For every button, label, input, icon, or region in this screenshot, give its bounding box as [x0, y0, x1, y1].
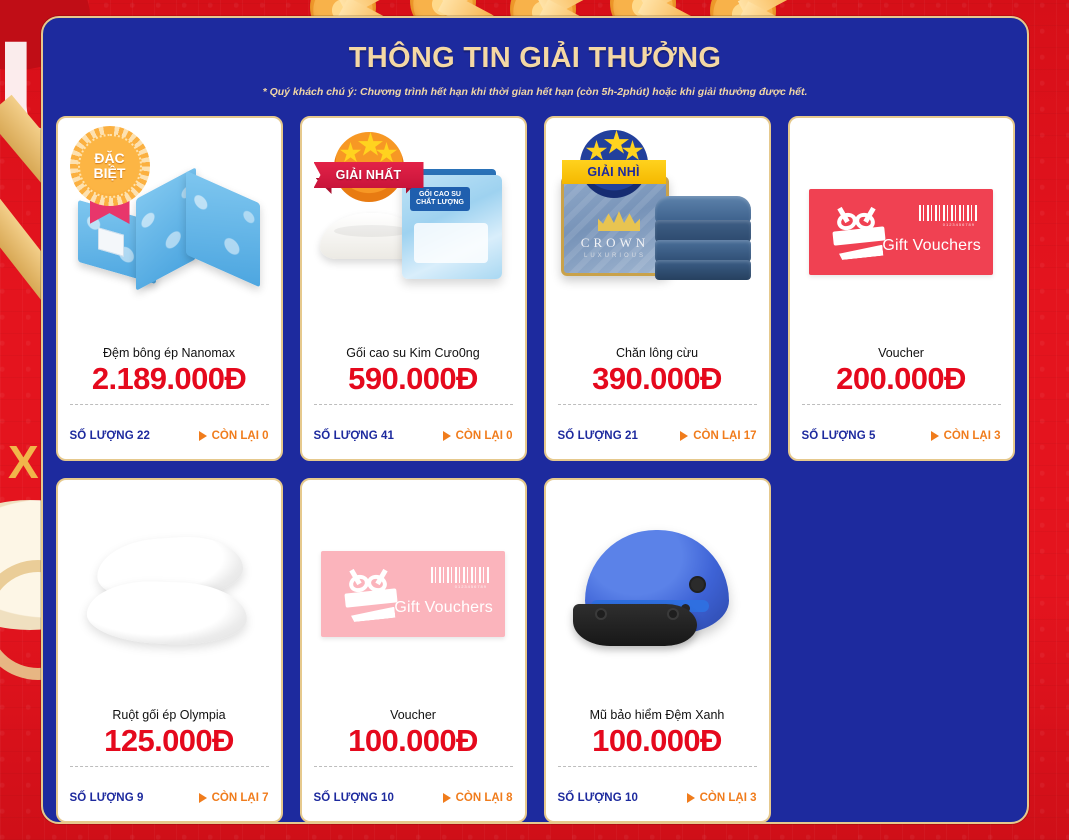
crown-icon [598, 211, 640, 231]
play-triangle-icon [687, 793, 695, 803]
prize-price: 125.000Đ [58, 724, 281, 758]
prize-remaining-label: CÒN LẠI 3 [944, 430, 1001, 442]
prize-price: 390.000Đ [546, 362, 769, 396]
barcode-icon [919, 205, 979, 221]
prize-price: 100.000Đ [546, 724, 769, 758]
prize-image-voucher-red: 0123456789 Gift Vouchers [790, 118, 1013, 346]
star-icon [340, 142, 362, 164]
badge-inner: ĐẶC BIỆT [78, 134, 142, 198]
prize-quantity: SỐ LƯỢNG 9 [70, 792, 144, 804]
helmet-brim [573, 604, 697, 646]
helmet-rivet [595, 608, 607, 620]
play-triangle-icon [931, 431, 939, 441]
prize-card[interactable]: 0123456789 Gift Vouchers Voucher 200.000… [788, 116, 1015, 461]
prize-remaining: CÒN LẠI 0 [443, 430, 513, 442]
blanket-brand: CROWN [564, 235, 666, 251]
prize-footer: SỐ LƯỢNG 41 CÒN LẠI 0 [302, 405, 525, 459]
star-icon [358, 132, 384, 158]
prize-card[interactable]: Mũ bảo hiểm Đệm Xanh 100.000Đ SỐ LƯỢNG 1… [544, 478, 771, 823]
prize-grid: ĐẶC BIỆT Đệm bông ép Nanomax 2.189.000Đ … [43, 98, 1027, 823]
prize-image-helmet [546, 480, 769, 708]
pillow-bottom [86, 579, 248, 647]
folded-blanket [655, 260, 751, 280]
folded-blanket [655, 240, 751, 262]
prize-card[interactable]: GIẢI NHÌ CROWN LUXURIOUS Chăn lông cừu [544, 116, 771, 461]
prize-image-pillows [58, 480, 281, 708]
prize-remaining-label: CÒN LẠI 8 [456, 792, 513, 804]
barcode-number: 0123456789 [943, 222, 975, 227]
badge-ribbon-label: GIẢI NHÌ [562, 160, 666, 184]
prize-quantity: SỐ LƯỢNG 21 [558, 430, 639, 442]
prize-footer: SỐ LƯỢNG 21 CÒN LẠI 17 [546, 405, 769, 459]
gift-box-base [839, 245, 884, 261]
barcode-icon [431, 567, 491, 583]
badge-giai-nhi: GIẢI NHÌ [558, 130, 668, 206]
badge-line-2: BIỆT [94, 166, 126, 181]
helmet-illustration [557, 524, 757, 664]
prize-price: 590.000Đ [302, 362, 525, 396]
prize-card[interactable]: Ruột gối ép Olympia 125.000Đ SỐ LƯỢNG 9 … [56, 478, 283, 823]
badge-ribbon-label: GIẢI NHẤT [314, 162, 424, 188]
prize-name: Ruột gối ép Olympia [58, 708, 281, 722]
play-triangle-icon [680, 431, 688, 441]
prize-name: Voucher [302, 708, 525, 722]
prize-remaining-label: CÒN LẠI 17 [693, 430, 756, 442]
play-triangle-icon [199, 793, 207, 803]
prize-remaining-label: CÒN LẠI 3 [700, 792, 757, 804]
panel-note: * Quý khách chú ý: Chương trình hết hạn … [43, 86, 1027, 98]
star-icon [604, 130, 630, 156]
prize-name: Voucher [790, 346, 1013, 360]
gift-voucher-pink: 0123456789 Gift Vouchers [321, 551, 505, 637]
page-title: THÔNG TIN GIẢI THƯỞNG [43, 42, 1027, 75]
prize-quantity: SỐ LƯỢNG 22 [70, 430, 151, 442]
gift-icon [831, 207, 887, 257]
play-triangle-icon [443, 793, 451, 803]
prize-footer: SỐ LƯỢNG 10 CÒN LẠI 8 [302, 767, 525, 821]
prize-remaining-label: CÒN LẠI 0 [212, 430, 269, 442]
prize-price: 200.000Đ [790, 362, 1013, 396]
prize-remaining: CÒN LẠI 8 [443, 792, 513, 804]
prize-info-panel: THÔNG TIN GIẢI THƯỞNG * Quý khách chú ý:… [41, 16, 1029, 824]
prize-remaining-label: CÒN LẠI 0 [456, 430, 513, 442]
badge-line-1: ĐẶC [94, 151, 124, 166]
bag-white-area [414, 223, 488, 263]
prize-name: Gối cao su Kim Cưo0ng [302, 346, 525, 360]
mattress-panel-c [186, 171, 260, 288]
folded-blanket [655, 196, 751, 222]
gift-voucher-red: 0123456789 Gift Vouchers [809, 189, 993, 275]
prize-remaining: CÒN LẠI 3 [687, 792, 757, 804]
prize-footer: SỐ LƯỢNG 22 CÒN LẠI 0 [58, 405, 281, 459]
prize-price: 100.000Đ [302, 724, 525, 758]
badge-dac-biet: ĐẶC BIỆT [68, 126, 152, 222]
prize-card[interactable]: ĐẶC BIỆT Đệm bông ép Nanomax 2.189.000Đ … [56, 116, 283, 461]
gift-box-base [351, 607, 396, 623]
prize-remaining: CÒN LẠI 7 [199, 792, 269, 804]
prize-footer: SỐ LƯỢNG 10 CÒN LẠI 3 [546, 767, 769, 821]
prize-quantity: SỐ LƯỢNG 41 [314, 430, 395, 442]
play-triangle-icon [443, 431, 451, 441]
prize-card[interactable]: GIẢI NHẤT GỐI CAO SU CHẤT LƯỢNG Gối cao … [300, 116, 527, 461]
helmet-rivet [667, 608, 679, 620]
prize-remaining: CÒN LẠI 3 [931, 430, 1001, 442]
prize-remaining: CÒN LẠI 0 [199, 430, 269, 442]
prize-name: Đệm bông ép Nanomax [58, 346, 281, 360]
star-icon [376, 142, 398, 164]
star-icon [586, 140, 608, 162]
badge-giai-nhat: GIẢI NHẤT [314, 132, 424, 210]
voucher-label: Gift Vouchers [882, 237, 981, 255]
prize-quantity: SỐ LƯỢNG 10 [558, 792, 639, 804]
star-icon [622, 140, 644, 162]
gift-icon [343, 569, 399, 619]
prize-quantity: SỐ LƯỢNG 5 [802, 430, 876, 442]
prize-price: 2.189.000Đ [58, 362, 281, 396]
prize-remaining: CÒN LẠI 17 [680, 430, 756, 442]
prize-quantity: SỐ LƯỢNG 10 [314, 792, 395, 804]
prize-image-voucher-pink: 0123456789 Gift Vouchers [302, 480, 525, 708]
play-triangle-icon [199, 431, 207, 441]
helmet-vent-large [689, 576, 706, 593]
prize-name: Chăn lông cừu [546, 346, 769, 360]
pillow-illustration [79, 534, 259, 654]
prize-name: Mũ bảo hiểm Đệm Xanh [546, 708, 769, 722]
prize-card[interactable]: 0123456789 Gift Vouchers Voucher 100.000… [300, 478, 527, 823]
folded-blanket [655, 220, 751, 242]
prize-remaining-label: CÒN LẠI 7 [212, 792, 269, 804]
barcode-number: 0123456789 [455, 584, 487, 589]
prize-footer: SỐ LƯỢNG 9 CÒN LẠI 7 [58, 767, 281, 821]
voucher-label: Gift Vouchers [394, 599, 493, 617]
blanket-subtitle: LUXURIOUS [564, 253, 666, 259]
background-letter-x: X [8, 435, 39, 489]
prize-footer: SỐ LƯỢNG 5 CÒN LẠI 3 [790, 405, 1013, 459]
